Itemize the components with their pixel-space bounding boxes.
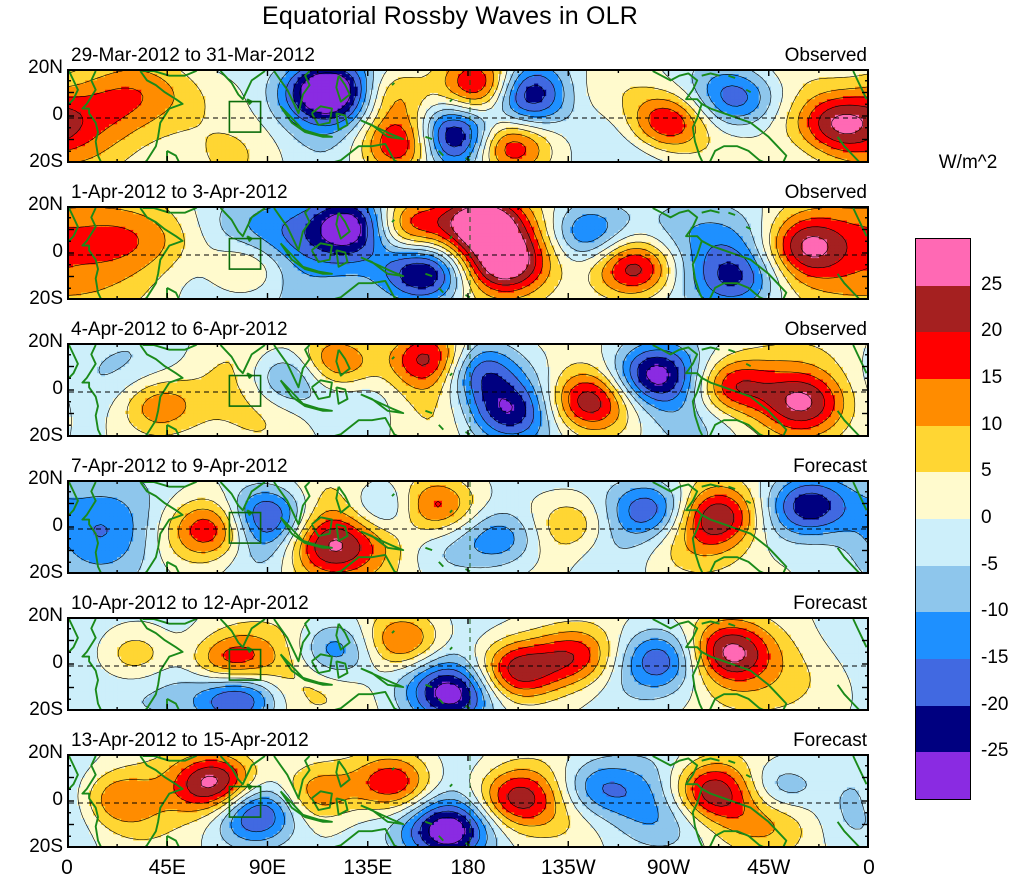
contour-fill (69, 619, 869, 711)
y-tick-20S: 20S (29, 151, 63, 173)
x-tick-5: 135W (541, 856, 596, 880)
olr-anomaly-map[interactable] (67, 69, 869, 163)
y-tick-20N: 20N (28, 194, 63, 216)
y-tick-20S: 20S (29, 288, 63, 310)
x-tick-2: 90E (249, 856, 286, 880)
colorbar-tick--25: -25 (981, 740, 1008, 762)
colorbar-tick-15: 15 (981, 367, 1002, 389)
colorbar-tick-0: 0 (981, 507, 992, 529)
y-tick-20S: 20S (29, 836, 63, 858)
y-tick-20S: 20S (29, 699, 63, 721)
x-axis-tick-labels: 045E90E135E180135W90W45W0 (67, 856, 869, 886)
panel-date-range: 29-Mar-2012 to 31-Mar-2012 (71, 45, 315, 67)
colorbar-unit-label: W/m^2 (915, 152, 1021, 174)
y-tick-0: 0 (52, 104, 63, 126)
colorbar-tick--20: -20 (981, 694, 1008, 716)
page-title: Equatorial Rossby Waves in OLR (0, 2, 900, 31)
panel-date-range: 10-Apr-2012 to 12-Apr-2012 (71, 593, 309, 615)
colorbar-tick--5: -5 (981, 554, 998, 576)
panel-date-range: 7-Apr-2012 to 9-Apr-2012 (71, 456, 288, 478)
y-tick-0: 0 (52, 378, 63, 400)
contour-fill (69, 345, 869, 437)
y-tick-20S: 20S (29, 425, 63, 447)
x-tick-0: 0 (61, 856, 73, 880)
y-tick-20N: 20N (28, 331, 63, 353)
panel-date-range: 1-Apr-2012 to 3-Apr-2012 (71, 182, 288, 204)
olr-anomaly-map[interactable] (67, 206, 869, 300)
colorbar-tick--15: -15 (981, 647, 1008, 669)
y-tick-20N: 20N (28, 605, 63, 627)
colorbar-tick--10: -10 (981, 600, 1008, 622)
x-tick-4: 180 (450, 856, 485, 880)
panel-status-label: Forecast (793, 730, 867, 752)
panel-status-label: Observed (785, 319, 867, 341)
colorbar-tick-25: 25 (981, 274, 1002, 296)
x-tick-7: 45W (747, 856, 790, 880)
x-tick-6: 90W (647, 856, 690, 880)
y-tick-20N: 20N (28, 57, 63, 79)
colorbar-tick-5: 5 (981, 460, 992, 482)
y-tick-20N: 20N (28, 742, 63, 764)
y-tick-20N: 20N (28, 468, 63, 490)
y-tick-20S: 20S (29, 562, 63, 584)
contour-fill (69, 71, 869, 163)
x-tick-8: 0 (863, 856, 875, 880)
olr-anomaly-map[interactable] (67, 480, 869, 574)
colorbar-tick-10: 10 (981, 414, 1002, 436)
y-tick-0: 0 (52, 652, 63, 674)
colorbar-tick-labels: 2520151050-5-10-15-20-25 (915, 238, 1021, 798)
panel-date-range: 13-Apr-2012 to 15-Apr-2012 (71, 730, 309, 752)
panel-status-label: Forecast (793, 593, 867, 615)
y-tick-0: 0 (52, 515, 63, 537)
olr-anomaly-map[interactable] (67, 343, 869, 437)
olr-anomaly-map[interactable] (67, 754, 869, 848)
y-tick-0: 0 (52, 241, 63, 263)
y-tick-0: 0 (52, 789, 63, 811)
x-tick-1: 45E (149, 856, 186, 880)
colorbar-tick-20: 20 (981, 320, 1002, 342)
panel-status-label: Observed (785, 45, 867, 67)
panel-date-range: 4-Apr-2012 to 6-Apr-2012 (71, 319, 288, 341)
x-tick-3: 135E (343, 856, 392, 880)
contour-fill (69, 482, 869, 574)
panel-status-label: Observed (785, 182, 867, 204)
olr-anomaly-map[interactable] (67, 617, 869, 711)
panel-status-label: Forecast (793, 456, 867, 478)
